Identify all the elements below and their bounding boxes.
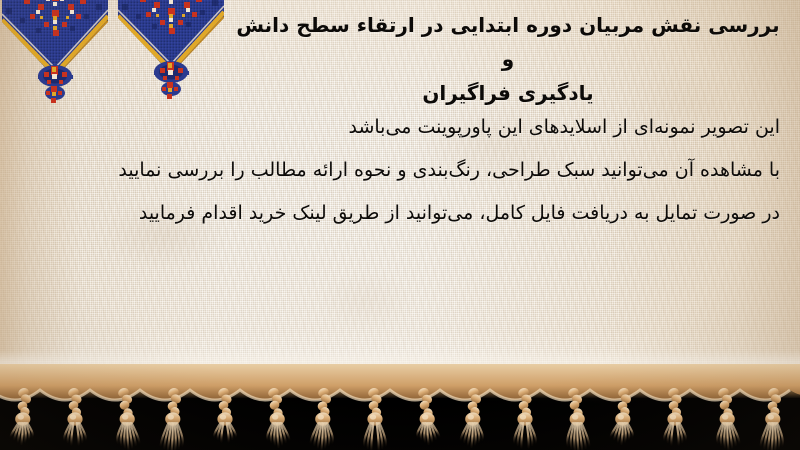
body-line-3: در صورت تمایل به دریافت فایل کامل، می‌تو… bbox=[20, 192, 780, 235]
body-line-2: با مشاهده آن می‌توانید سبک طراحی، رنگ‌بن… bbox=[20, 149, 780, 192]
fringe-tassel bbox=[567, 386, 589, 450]
carpet-knotted-fringe bbox=[0, 364, 800, 450]
body-line-1: این تصویر نمونه‌ای از اسلایدهای این پاور… bbox=[20, 106, 780, 149]
fringe-tassel bbox=[717, 386, 739, 450]
slide-body-text: این تصویر نمونه‌ای از اسلایدهای این پاور… bbox=[20, 106, 780, 235]
slide-title: بررسی نقش مربیان دوره ابتدایی در ارتقاء … bbox=[228, 8, 788, 110]
fringe-tassel bbox=[117, 386, 139, 450]
fringe-tassel bbox=[267, 386, 289, 447]
fringe-tassels-artwork bbox=[0, 364, 800, 450]
slide-title-line-2: یادگیری فراگیران bbox=[228, 76, 788, 110]
fringe-tassel bbox=[417, 386, 439, 444]
slide-title-line-1: بررسی نقش مربیان دوره ابتدایی در ارتقاء … bbox=[228, 8, 788, 76]
powerpoint-slide: بررسی نقش مربیان دوره ابتدایی در ارتقاء … bbox=[0, 0, 800, 450]
